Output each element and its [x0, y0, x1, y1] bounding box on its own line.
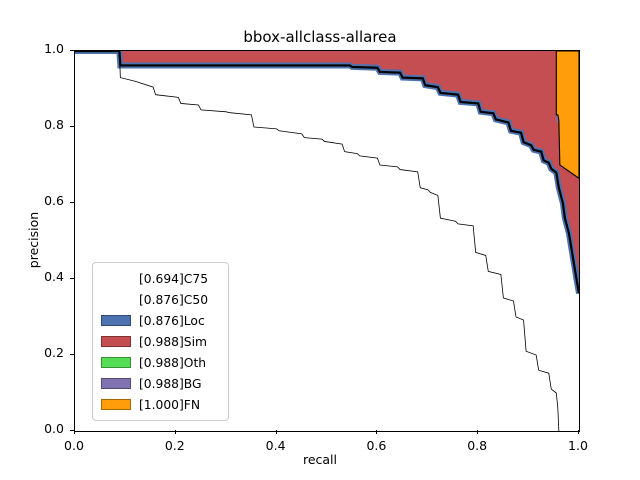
- legend-label: [1.000]FN: [139, 398, 200, 412]
- legend-item-0988oth[interactable]: [0.988]Oth: [101, 352, 220, 373]
- y-tick: [70, 50, 74, 51]
- x-tick: [376, 430, 377, 434]
- legend-swatch-icon: [101, 315, 131, 326]
- x-tick-label: 1.0: [548, 438, 608, 453]
- legend-item-0876loc[interactable]: [0.876]Loc: [101, 310, 220, 331]
- x-tick: [276, 430, 277, 434]
- legend-item-0876c50[interactable]: [0.876]C50: [101, 289, 220, 310]
- x-tick-label: 0.8: [447, 438, 507, 453]
- legend-swatch-icon: [101, 294, 131, 305]
- y-tick: [70, 278, 74, 279]
- x-tick-label: 0.2: [145, 438, 205, 453]
- legend-item-1000fn[interactable]: [1.000]FN: [101, 394, 220, 415]
- legend-label: [0.988]Oth: [139, 356, 206, 370]
- legend-swatch-icon: [101, 378, 131, 389]
- legend[interactable]: [0.694]C75[0.876]C50[0.876]Loc[0.988]Sim…: [92, 262, 229, 421]
- x-tick: [578, 430, 579, 434]
- x-tick: [175, 430, 176, 434]
- legend-swatch-icon: [101, 273, 131, 284]
- y-tick: [70, 126, 74, 127]
- legend-label: [0.988]Sim: [139, 335, 207, 349]
- x-tick-label: 0.4: [246, 438, 306, 453]
- legend-swatch-icon: [101, 399, 131, 410]
- legend-label: [0.694]C75: [139, 272, 208, 286]
- series-fill-sim: [75, 51, 579, 293]
- legend-item-0988bg[interactable]: [0.988]BG: [101, 373, 220, 394]
- legend-swatch-icon: [101, 357, 131, 368]
- legend-label: [0.988]BG: [139, 377, 202, 391]
- chart-title: bbox-allclass-allarea: [0, 28, 640, 46]
- x-tick: [74, 430, 75, 434]
- legend-label: [0.876]Loc: [139, 314, 205, 328]
- series-fill-fn: [556, 51, 579, 178]
- x-tick-label: 0.6: [346, 438, 406, 453]
- figure-canvas: bbox-allclass-allarea 0.00.20.40.60.81.0…: [0, 0, 640, 480]
- y-tick: [70, 202, 74, 203]
- legend-item-0988sim[interactable]: [0.988]Sim: [101, 331, 220, 352]
- y-tick: [70, 430, 74, 431]
- legend-item-0694c75[interactable]: [0.694]C75: [101, 268, 220, 289]
- x-tick: [477, 430, 478, 434]
- x-tick-label: 0.0: [44, 438, 104, 453]
- x-axis-label: recall: [0, 452, 640, 467]
- y-axis-label: precision: [26, 50, 41, 430]
- legend-swatch-icon: [101, 336, 131, 347]
- y-tick: [70, 354, 74, 355]
- legend-label: [0.876]C50: [139, 293, 208, 307]
